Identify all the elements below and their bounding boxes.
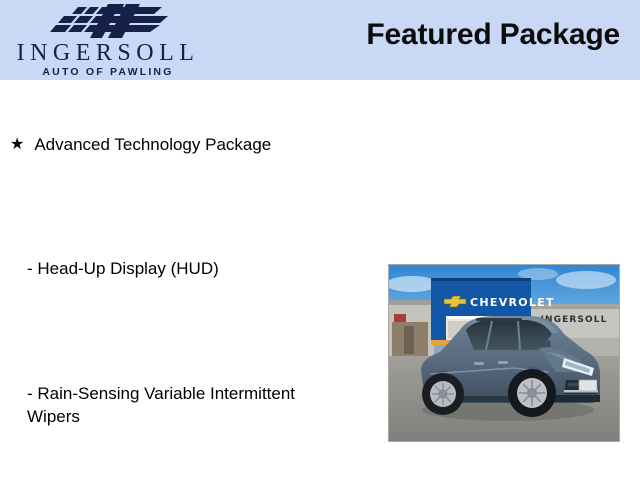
package-list-item: ★ Advanced Technology Package	[10, 134, 370, 156]
vehicle-photo: INGERSOLL CHEVROLET	[388, 264, 620, 442]
page-title: Featured Package	[366, 18, 620, 52]
logo-tagline: AUTO OF PAWLING	[8, 66, 208, 78]
slide-body: ★ Advanced Technology Package - Head-Up …	[0, 80, 640, 480]
logo-wordmark: INGERSOLL	[8, 40, 208, 66]
slide-header: INGERSOLL AUTO OF PAWLING Featured Packa…	[0, 0, 640, 80]
star-bullet-icon: ★	[10, 134, 24, 156]
package-title: Advanced Technology Package	[34, 134, 271, 156]
feature-item-rain-sensing-wipers: - Rain-Sensing Variable Intermittent Wip…	[27, 382, 329, 428]
dealer-logo: INGERSOLL AUTO OF PAWLING	[8, 2, 208, 78]
ingersoll-winged-flag-emblem	[50, 4, 168, 42]
svg-text:CHEVROLET: CHEVROLET	[470, 296, 555, 309]
feature-item-head-up-display: - Head-Up Display (HUD)	[27, 258, 357, 280]
